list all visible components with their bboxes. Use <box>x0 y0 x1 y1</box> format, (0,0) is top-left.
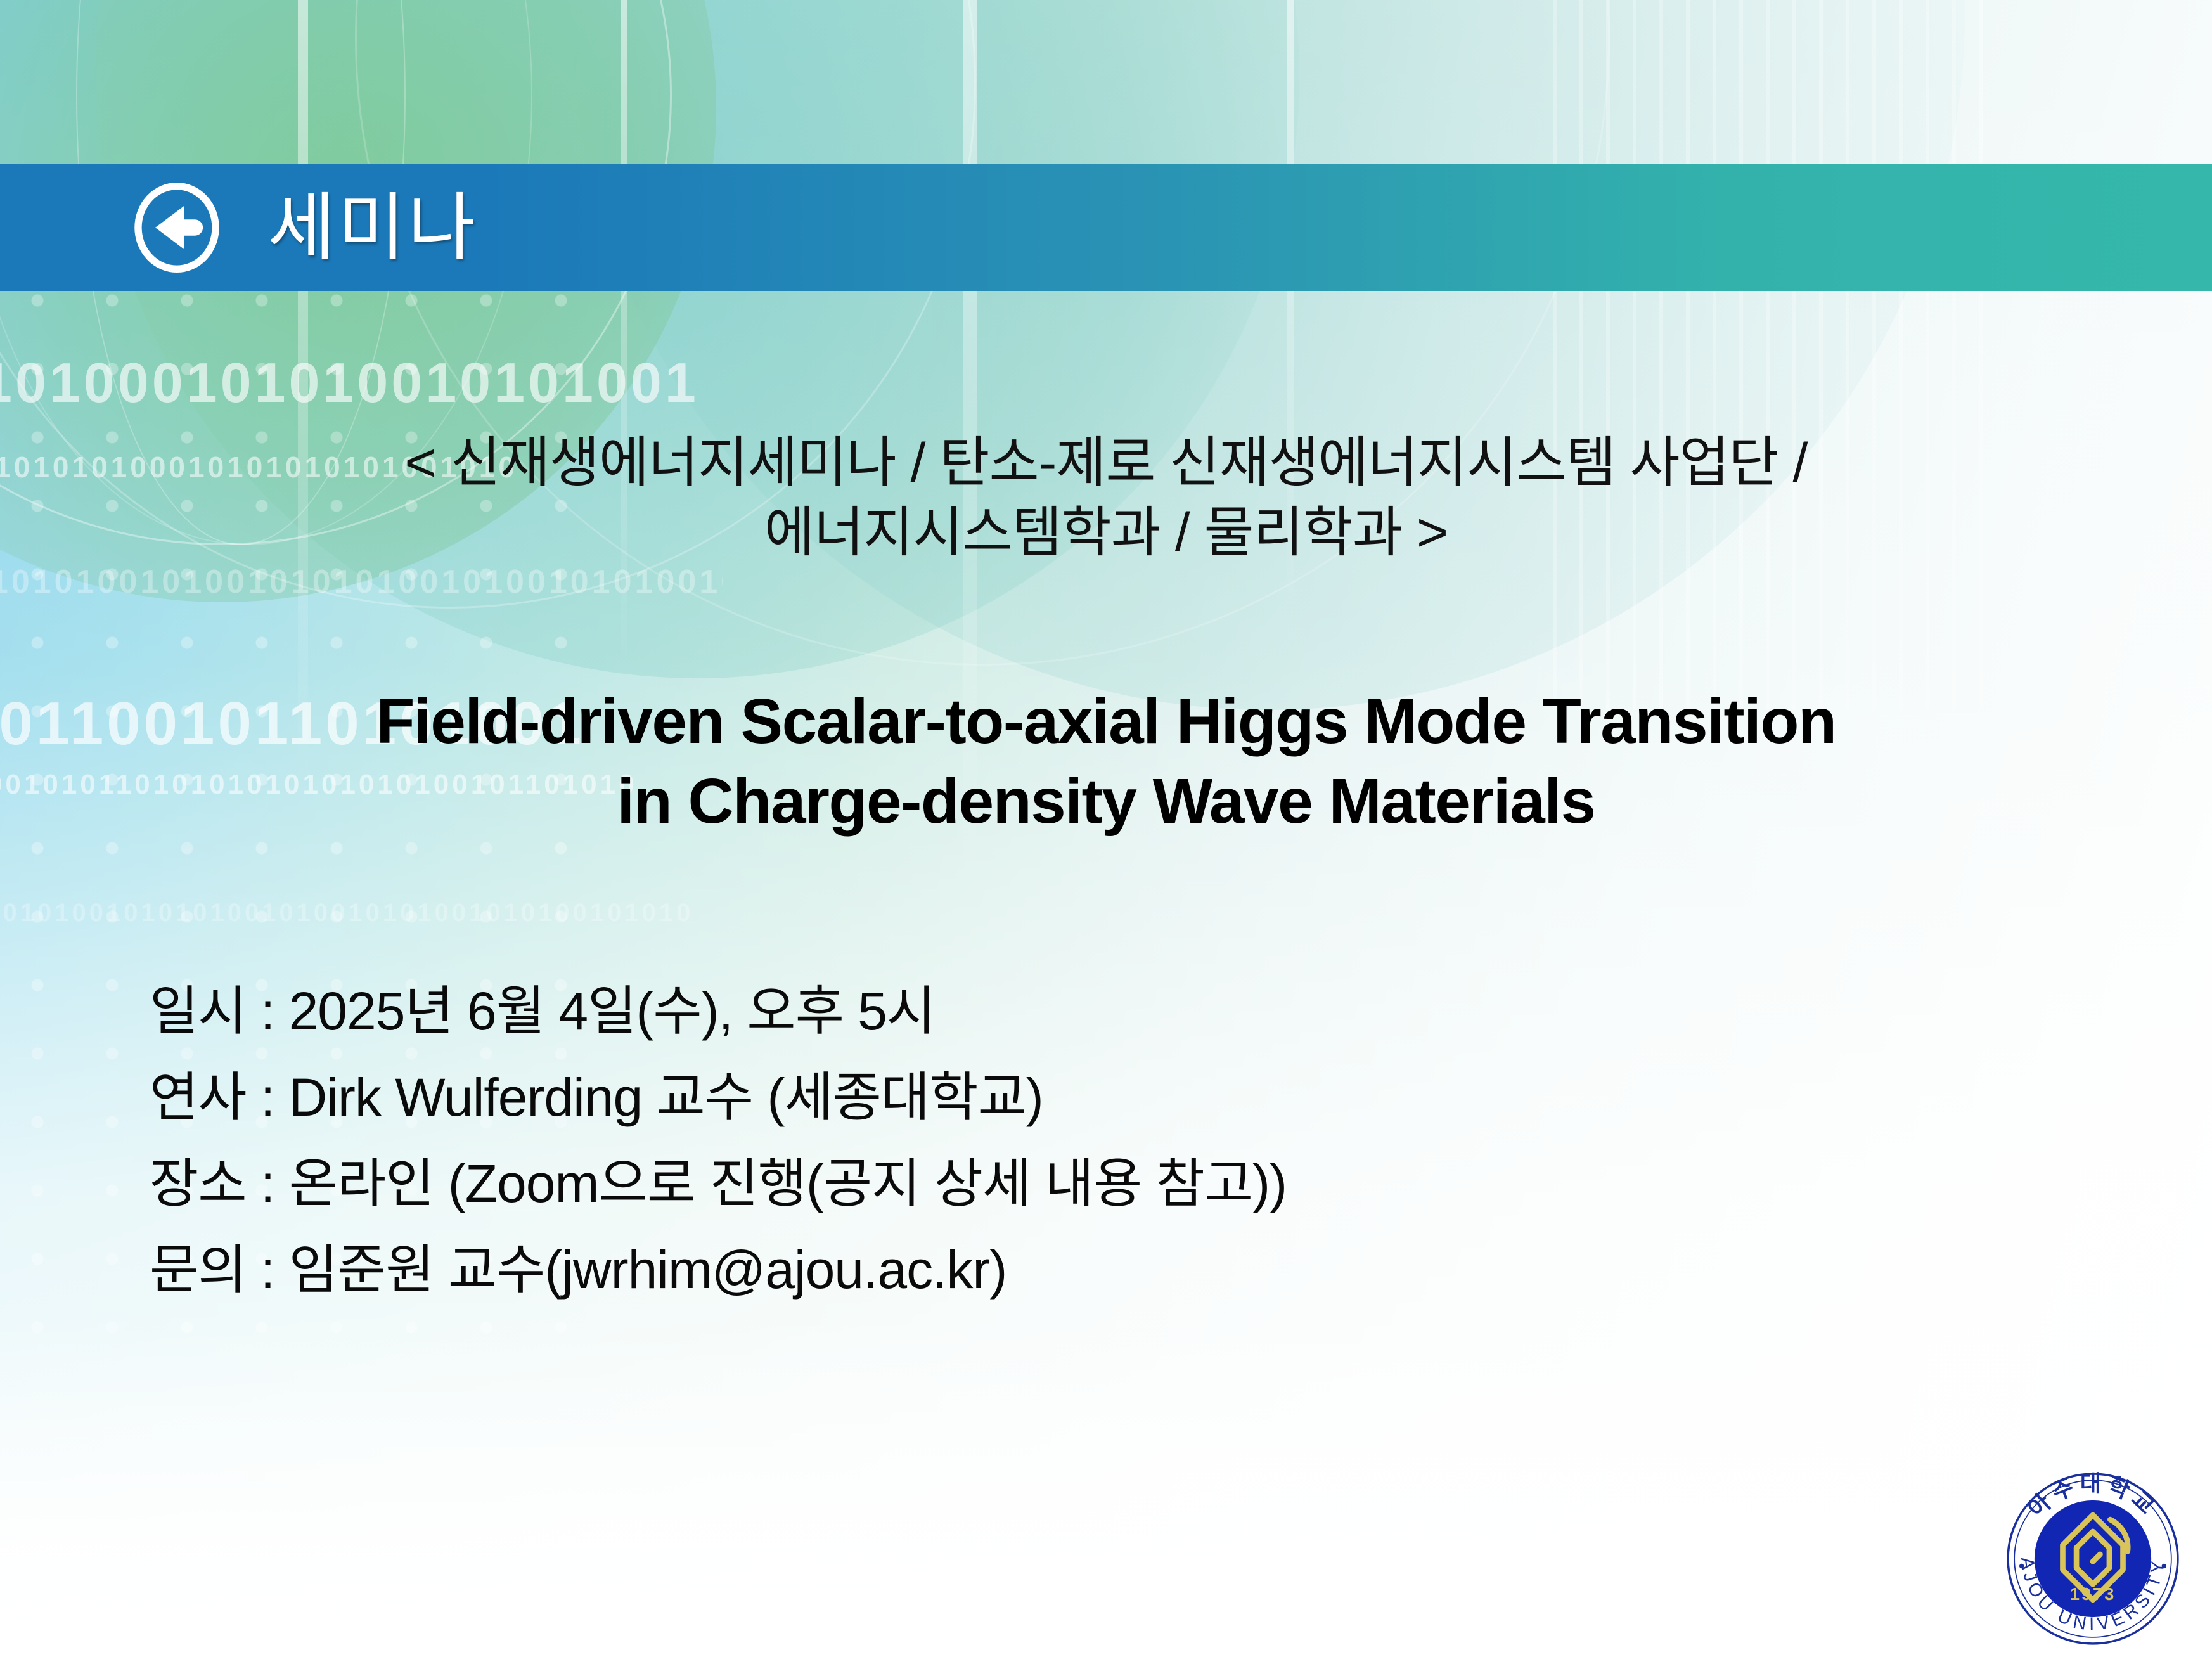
seminar-details: 일시 : 2025년 6월 4일(수), 오후 5시 연사 : Dirk Wul… <box>0 968 2212 1313</box>
page-title: 세미나 <box>267 191 478 264</box>
circle-left-arrow-icon[interactable] <box>132 183 222 273</box>
detail-datetime: 일시 : 2025년 6월 4일(수), 오후 5시 <box>150 968 2212 1054</box>
poster-content: < 신재생에너지세미나 / 탄소-제로 신재생에너지시스템 사업단 / 에너지시… <box>0 291 2212 1313</box>
header-bar: 세미나 <box>0 164 2212 291</box>
detail-location: 장소 : 온라인 (Zoom으로 진행(공지 상세 내용 참고)) <box>150 1140 2212 1227</box>
subtitle-line-2: 에너지시스템학과 / 물리학과 > <box>764 502 1448 563</box>
talk-title-line-2: in Charge-density Wave Materials <box>617 766 1595 837</box>
subtitle-line-1: < 신재생에너지세미나 / 탄소-제로 신재생에너지시스템 사업단 / <box>404 432 1807 493</box>
ajou-university-logo: 아주대학교 AJOU UNIVERSITY 1973 <box>2002 1467 2184 1650</box>
talk-title-line-1: Field-driven Scalar-to-axial Higgs Mode … <box>376 686 1836 757</box>
detail-contact: 문의 : 임준원 교수(jwrhim@ajou.ac.kr) <box>150 1227 2212 1313</box>
logo-year: 1973 <box>2070 1584 2116 1604</box>
seminar-poster: 101000101010010101001 101010101000101010… <box>0 0 2212 1664</box>
detail-speaker: 연사 : Dirk Wulferding 교수 (세종대학교) <box>150 1054 2212 1140</box>
seminar-series-subtitle: < 신재생에너지세미나 / 탄소-제로 신재생에너지시스템 사업단 / 에너지시… <box>0 428 2212 567</box>
talk-title: Field-driven Scalar-to-axial Higgs Mode … <box>0 681 2212 841</box>
